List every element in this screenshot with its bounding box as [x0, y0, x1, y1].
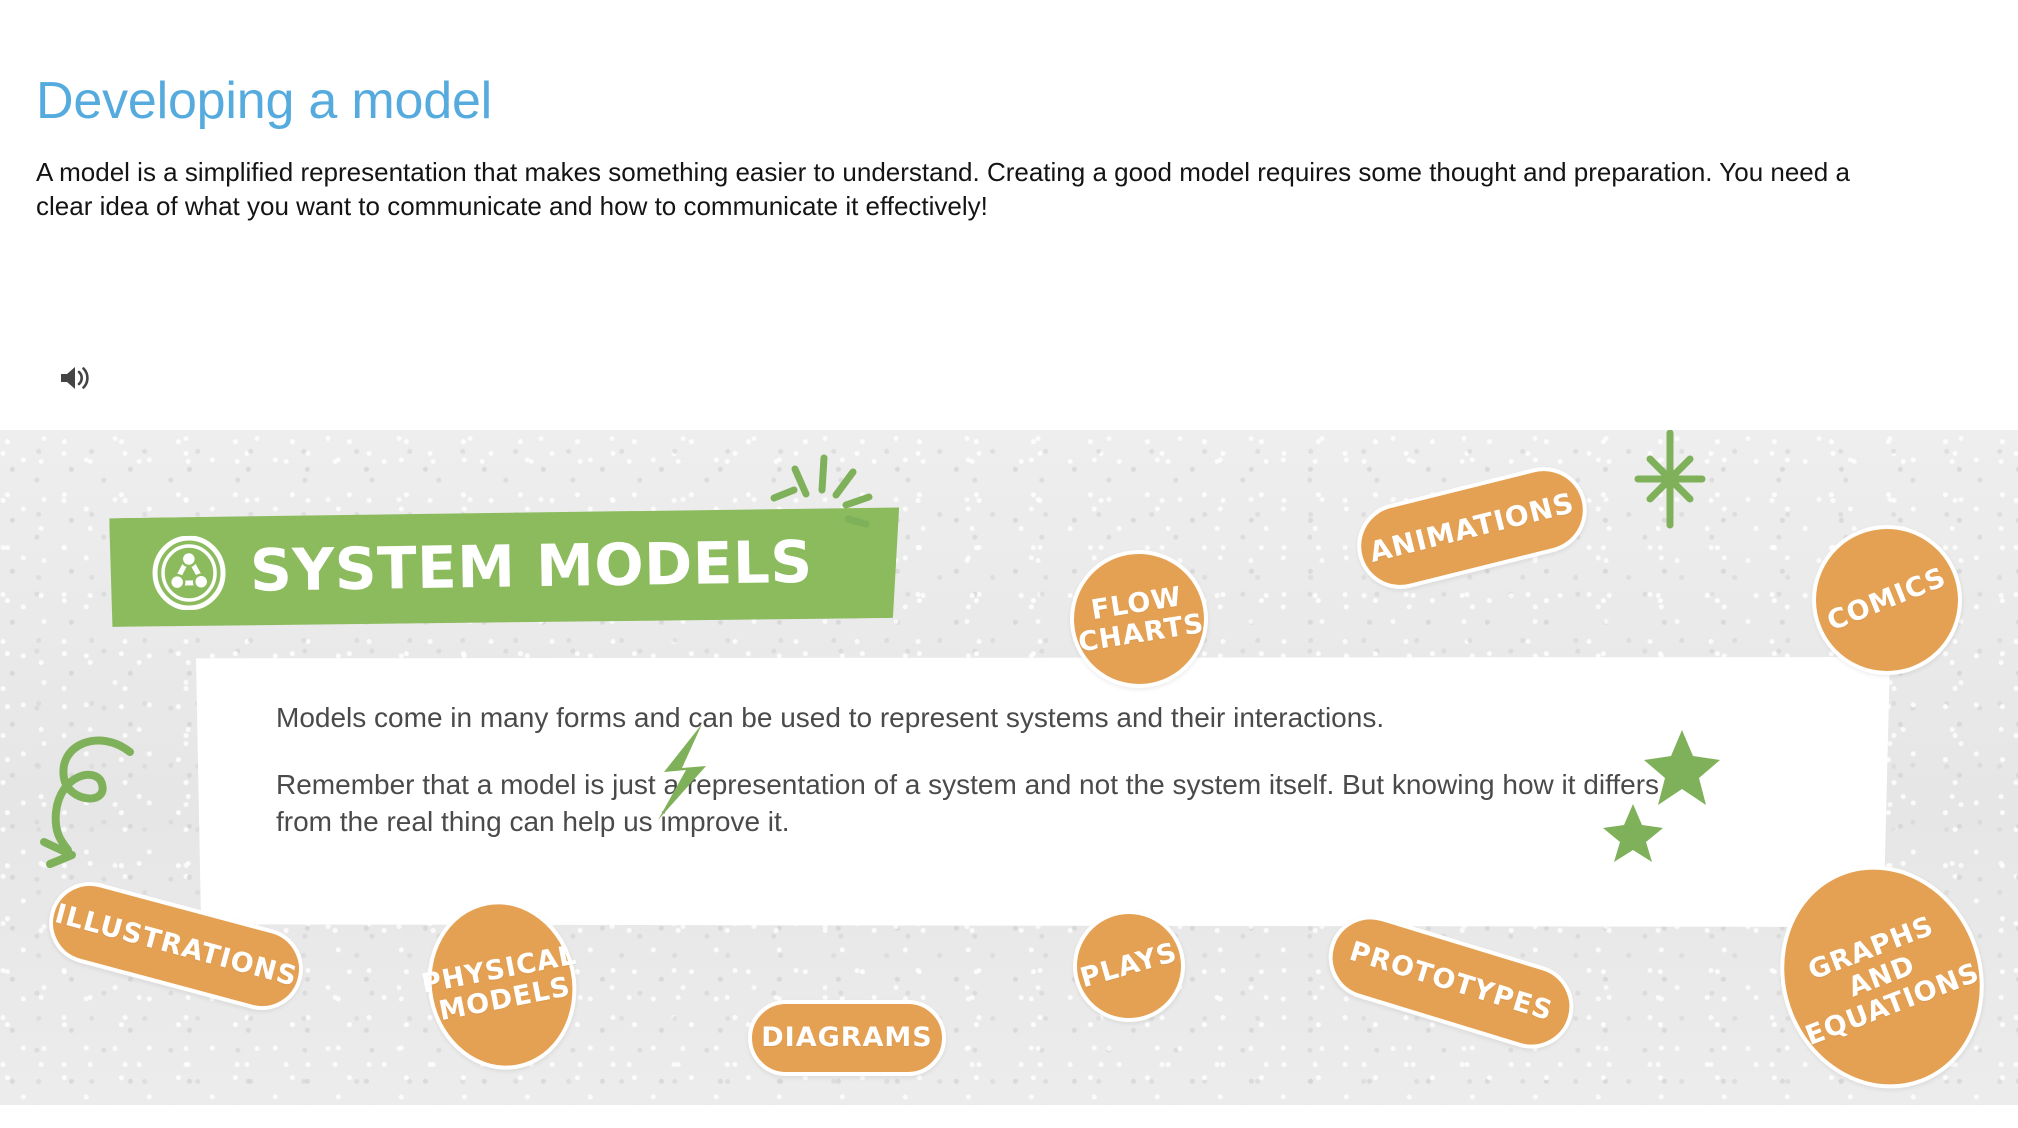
tag-graphs-and-equations-label: GRAPHS AND EQUATIONS — [1776, 900, 1988, 1053]
system-nodes-circle-icon — [151, 535, 226, 610]
curly-arrow-doodle — [34, 730, 164, 870]
illustration-card-text: Models come in many forms and can be use… — [276, 700, 1676, 841]
card-paragraph-2: Remember that a model is just a represen… — [276, 767, 1676, 841]
tag-flow-charts-label: FLOW CHARTS — [1070, 579, 1208, 659]
audio-play-button[interactable] — [58, 358, 102, 398]
star-small-doodle — [1600, 800, 1666, 866]
card-paragraph-1: Models come in many forms and can be use… — [276, 700, 1676, 737]
banner-title: SYSTEM MODELS — [249, 528, 813, 605]
lesson-intro-paragraph: A model is a simplified representation t… — [36, 155, 1876, 224]
tag-animations-label: ANIMATIONS — [1366, 487, 1577, 568]
four-point-star-doodle — [1630, 430, 1710, 535]
tag-prototypes-label: PROTOTYPES — [1346, 937, 1556, 1027]
tag-prototypes[interactable]: PROTOTYPES — [1318, 905, 1584, 1059]
burst-sparkle-doodle — [760, 450, 880, 540]
lesson-page: Developing a model A model is a simplifi… — [0, 0, 2018, 1128]
tag-diagrams-label: DIAGRAMS — [761, 1023, 933, 1053]
tag-animations[interactable]: ANIMATIONS — [1348, 458, 1596, 598]
tag-comics-label: COMICS — [1823, 562, 1951, 637]
tag-plays-label: PLAYS — [1077, 938, 1181, 994]
system-models-illustration: Models come in many forms and can be use… — [0, 430, 2018, 1105]
speaker-icon — [58, 363, 94, 393]
lesson-intro-text: A model is a simplified representation t… — [36, 155, 1876, 224]
tag-diagrams[interactable]: DIAGRAMS — [748, 1000, 946, 1076]
lightning-bolt-doodle — [650, 720, 720, 825]
page-title: Developing a model — [36, 71, 492, 131]
star-large-doodle — [1640, 725, 1724, 809]
tag-physical-models-label: PHYSICAL MODELS — [419, 940, 585, 1029]
